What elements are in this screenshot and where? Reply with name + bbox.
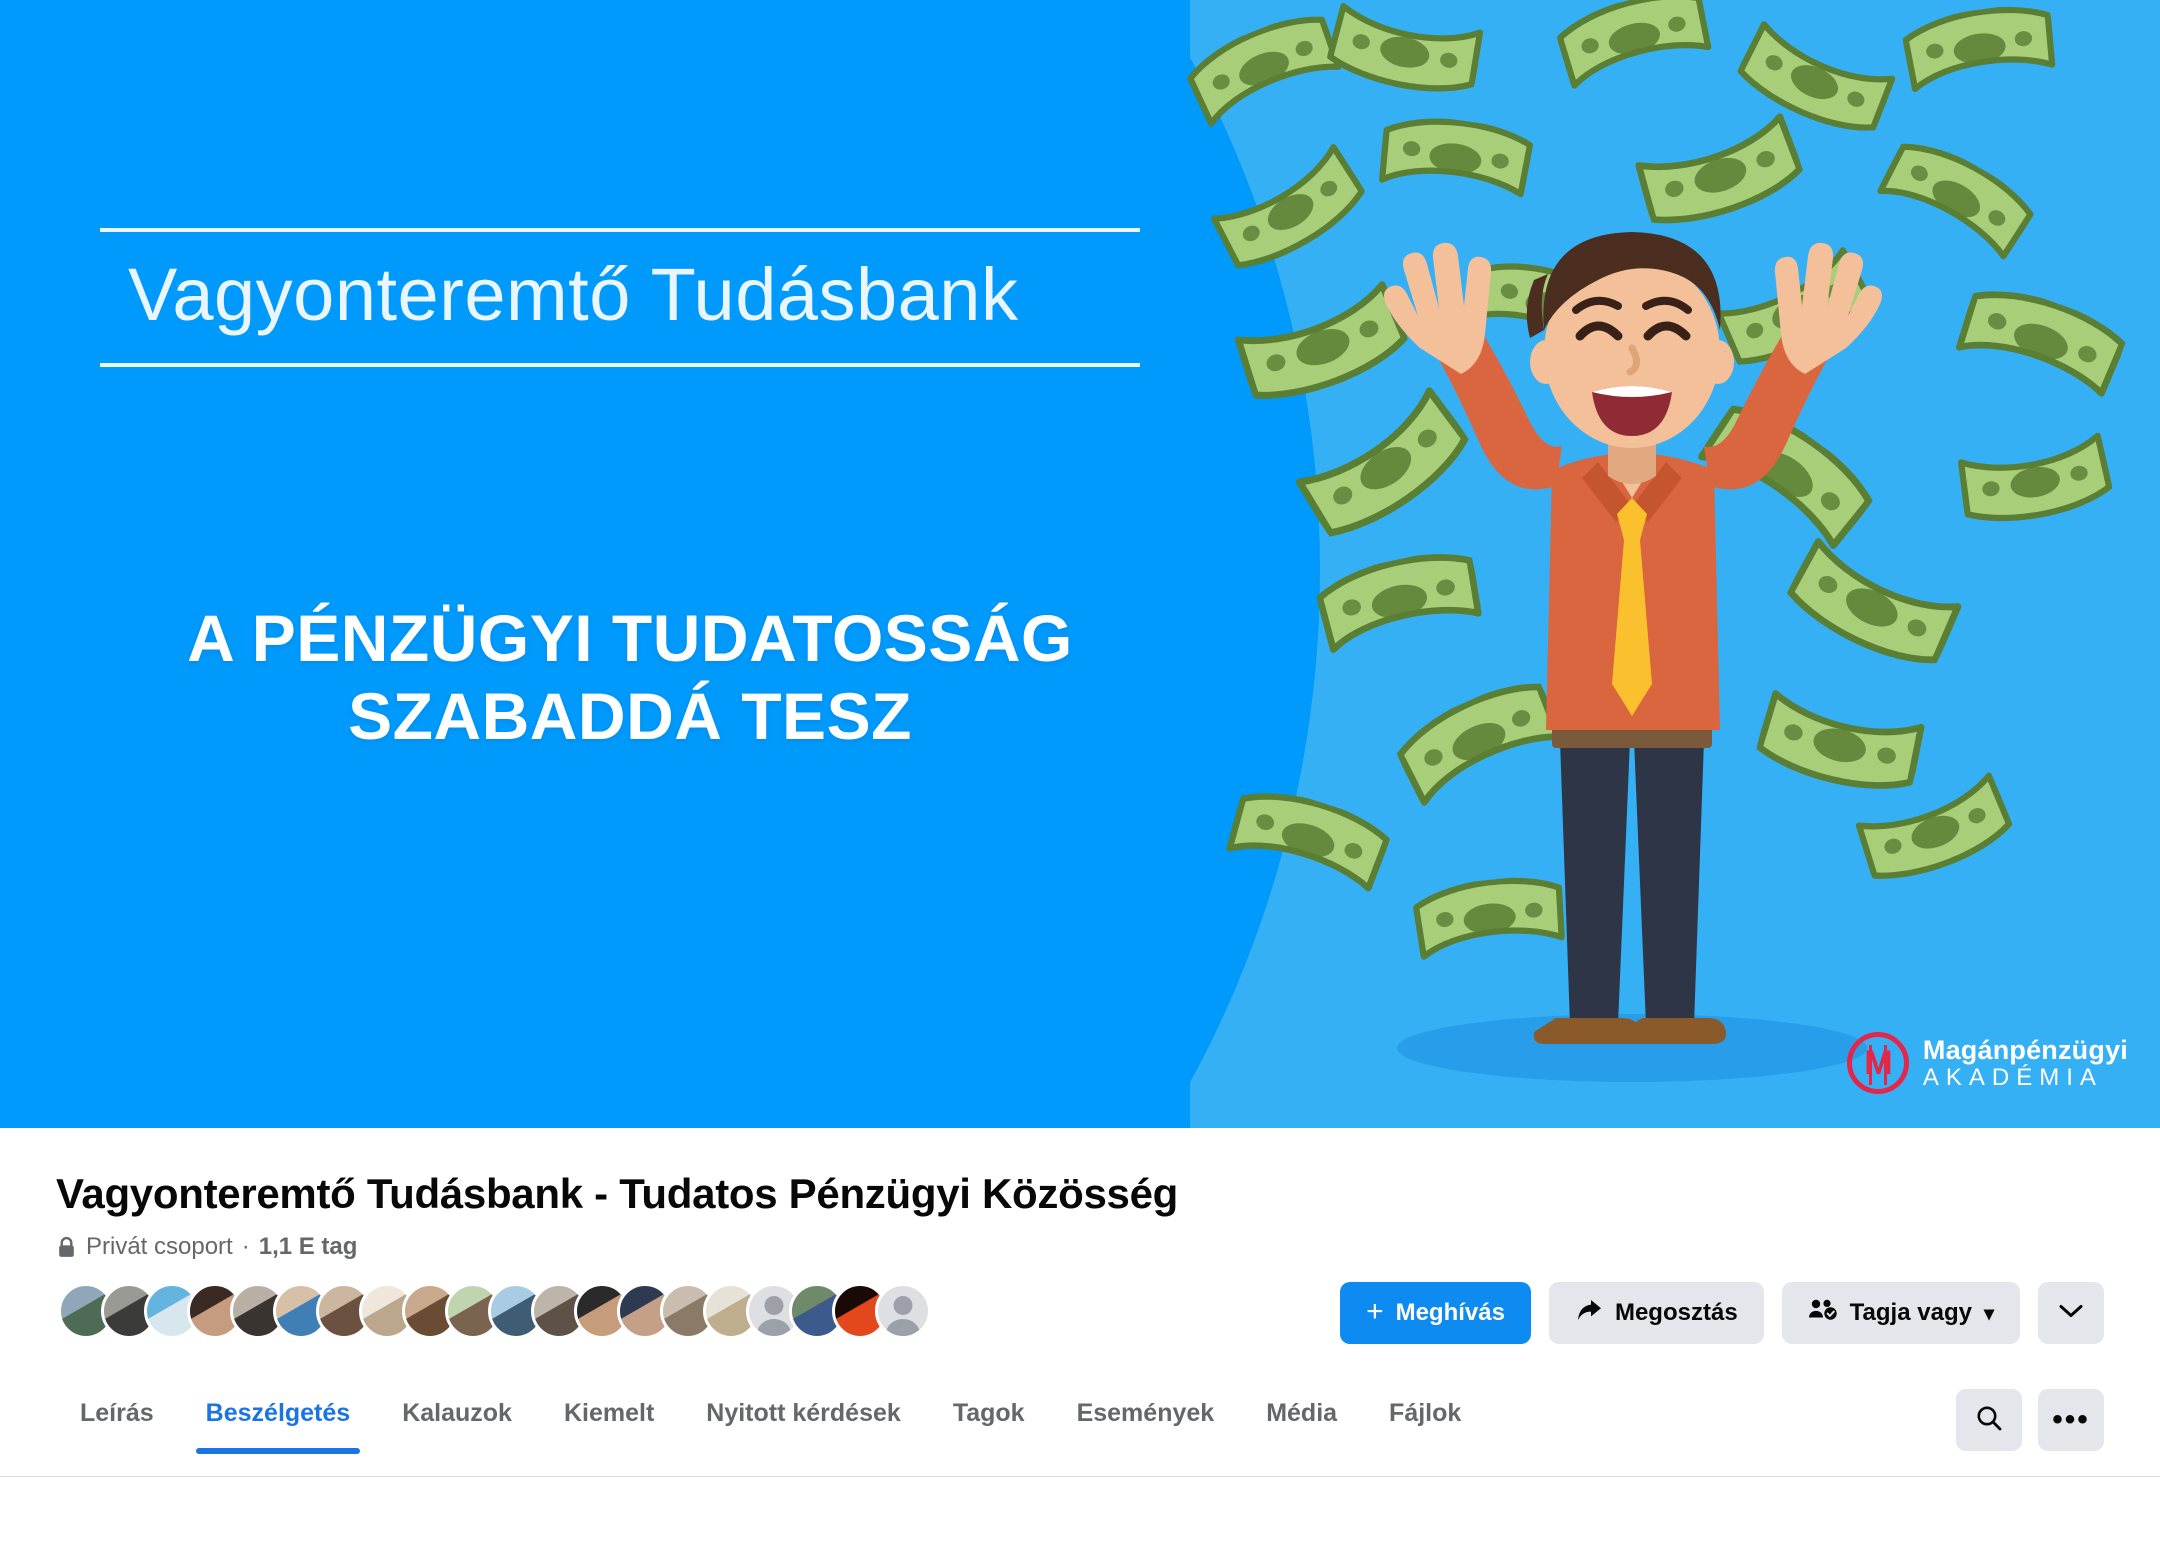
joined-button-label: Tagja vagy [1850, 1299, 1972, 1327]
illustration-svg [0, 0, 2160, 1128]
tab-bar-actions: ••• [1956, 1389, 2104, 1451]
tabs: Leírás Beszélgetés Kalauzok Kiemelt Nyit… [56, 1377, 1485, 1454]
ellipsis-icon: ••• [2052, 1414, 2090, 1426]
invite-button-label: Meghívás [1396, 1299, 1505, 1327]
tab-open-questions[interactable]: Nyitott kérdések [682, 1377, 925, 1454]
lock-icon [56, 1236, 77, 1259]
academy-logo-mark-icon: M [1847, 1032, 1909, 1094]
logo-name-top: Magánpénzügyi [1923, 1036, 2128, 1065]
cover-rule-bottom [100, 363, 1140, 367]
tab-members[interactable]: Tagok [929, 1377, 1049, 1454]
tab-about[interactable]: Leírás [56, 1377, 178, 1454]
meta-separator: · [242, 1233, 250, 1261]
avatar[interactable] [875, 1283, 931, 1339]
page-title: Vagyonteremtő Tudásbank - Tudatos Pénzüg… [56, 1168, 1236, 1221]
tab-media[interactable]: Média [1242, 1377, 1361, 1454]
members-check-icon [1808, 1298, 1838, 1329]
academy-logo: M Magánpénzügyi AKADÉMIA [1847, 1032, 2128, 1094]
cover-brand-title: Vagyonteremtő Tudásbank [100, 232, 1140, 363]
chevron-down-icon [2058, 1299, 2084, 1327]
logo-letter: M [1864, 1046, 1891, 1080]
tab-discussion[interactable]: Beszélgetés [182, 1377, 375, 1454]
share-arrow-icon [1575, 1297, 1603, 1330]
tab-featured[interactable]: Kiemelt [540, 1377, 678, 1454]
cover-headline: A PÉNZÜGYI TUDATOSSÁG SZABADDÁ TESZ [100, 600, 1160, 756]
more-options-button[interactable] [2038, 1282, 2104, 1344]
share-button[interactable]: Megosztás [1549, 1282, 1764, 1344]
search-button[interactable] [1956, 1389, 2022, 1451]
tab-files[interactable]: Fájlok [1365, 1377, 1485, 1454]
tab-more-button[interactable]: ••• [2038, 1389, 2104, 1451]
group-privacy: Privát csoport [86, 1233, 233, 1261]
caret-down-icon: ▾ [1984, 1301, 1994, 1326]
tab-guides[interactable]: Kalauzok [378, 1377, 536, 1454]
plus-icon: + [1366, 1297, 1384, 1327]
group-tab-bar: Leírás Beszélgetés Kalauzok Kiemelt Nyit… [0, 1377, 2160, 1477]
group-cover-photo[interactable]: Vagyonteremtő Tudásbank A PÉNZÜGYI TUDAT… [0, 0, 2160, 1128]
tab-events[interactable]: Események [1053, 1377, 1239, 1454]
search-icon [1975, 1404, 2003, 1435]
cover-headline-line1: A PÉNZÜGYI TUDATOSSÁG [100, 600, 1160, 678]
group-member-count: 1,1 E tag [259, 1233, 358, 1261]
joined-button[interactable]: Tagja vagy ▾ [1782, 1282, 2020, 1344]
cover-brand-title-block: Vagyonteremtő Tudásbank [100, 228, 1140, 367]
money-rain-illustration [0, 0, 2160, 1128]
group-info-bar: Vagyonteremtő Tudásbank - Tudatos Pénzüg… [0, 1128, 2160, 1339]
invite-button[interactable]: + Meghívás [1340, 1282, 1531, 1344]
logo-name-bottom: AKADÉMIA [1923, 1065, 2128, 1090]
academy-logo-text: Magánpénzügyi AKADÉMIA [1923, 1036, 2128, 1090]
group-meta: Privát csoport · 1,1 E tag [56, 1233, 2104, 1261]
group-action-buttons: + Meghívás Megosztás Tagja vag [1340, 1282, 2104, 1344]
cover-headline-line2: SZABADDÁ TESZ [100, 678, 1160, 756]
share-button-label: Megosztás [1615, 1299, 1738, 1327]
